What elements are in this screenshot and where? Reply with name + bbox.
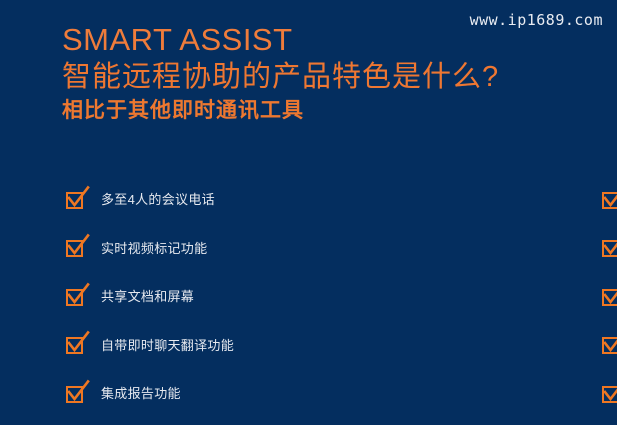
checkbox-checked-icon — [602, 190, 617, 211]
checkbox-checked-icon — [602, 384, 617, 405]
feature-item: 集成报告功能 — [66, 370, 271, 419]
feature-item: 共享文档和屏幕 — [66, 273, 271, 322]
feature-label: 多至4人的会议电话 — [101, 192, 215, 208]
checkbox-checked-icon — [66, 287, 87, 308]
checkbox-checked-icon — [602, 335, 617, 356]
checkbox-checked-icon — [66, 384, 87, 405]
checkbox-checked-icon — [66, 190, 87, 211]
feature-label: 共享文档和屏幕 — [101, 289, 194, 305]
feature-item: 无广告 — [602, 370, 617, 419]
feature-item: 多至4人的会议电话 — [66, 176, 271, 225]
feature-label: 集成报告功能 — [101, 386, 181, 402]
slide-canvas: www.ip1689.com SMART ASSIST 智能远程协助的产品特色是… — [0, 0, 617, 425]
checkbox-checked-icon — [602, 238, 617, 259]
feature-item: 简单清晰的指导说明 — [602, 225, 617, 274]
checkbox-checked-icon — [66, 238, 87, 259]
feature-item: 实时视频标记功能 — [66, 225, 271, 274]
feature-label: 自带即时聊天翻译功能 — [101, 338, 234, 354]
page-title-chinese: 智能远程协助的产品特色是什么? — [62, 58, 582, 96]
heading-block: SMART ASSIST 智能远程协助的产品特色是什么? 相比于其他即时通讯工具 — [62, 22, 582, 126]
feature-item: 自带即时聊天翻译功能 — [66, 322, 271, 371]
checkbox-checked-icon — [66, 335, 87, 356]
page-title-english: SMART ASSIST — [62, 22, 582, 58]
feature-item: 留有ERP/CRM 软件应用集成接口（API） — [602, 176, 617, 225]
feature-column-right: 留有ERP/CRM 软件应用集成接口（API）简单清晰的指导说明安全数据策略(无… — [271, 176, 617, 419]
feature-item: 端到端加密 — [602, 322, 617, 371]
feature-label: 实时视频标记功能 — [101, 241, 207, 257]
feature-item: 安全数据策略(无数据处理) — [602, 273, 617, 322]
feature-column-left: 多至4人的会议电话实时视频标记功能共享文档和屏幕自带即时聊天翻译功能集成报告功能 — [0, 176, 271, 419]
checkbox-checked-icon — [602, 287, 617, 308]
feature-list: 多至4人的会议电话实时视频标记功能共享文档和屏幕自带即时聊天翻译功能集成报告功能… — [0, 176, 617, 419]
page-subtitle: 相比于其他即时通讯工具 — [62, 96, 582, 126]
